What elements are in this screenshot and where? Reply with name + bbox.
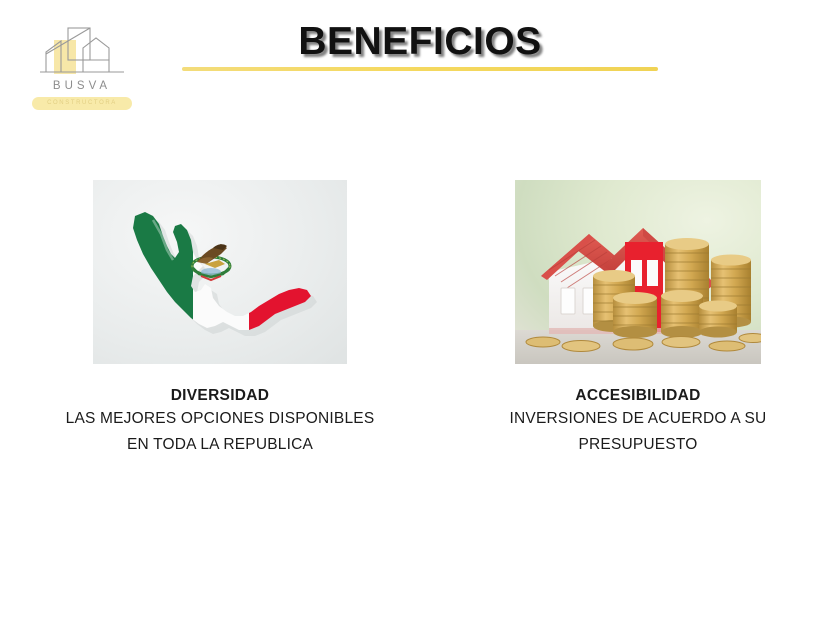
logo-subtitle: CONSTRUCTORA <box>32 97 132 110</box>
slide-benefits: BUSVA CONSTRUCTORA BENEFICIOS <box>0 0 840 630</box>
title-underline-rule <box>182 67 658 71</box>
logo-wordmark: BUSVA <box>26 80 138 92</box>
benefit-heading: ACCESIBILIDAD <box>458 386 818 406</box>
benefit-description-line-2: PRESUPUESTO <box>458 432 818 458</box>
mexico-map-illustration <box>93 180 347 364</box>
benefit-caption: DIVERSIDAD LAS MEJORES OPCIONES DISPONIB… <box>28 386 412 458</box>
page-title: BENEFICIOS <box>0 20 840 64</box>
house-coins-photo <box>515 180 761 364</box>
benefit-description-line-2: EN TODA LA REPUBLICA <box>28 432 412 458</box>
benefit-description-line-1: INVERSIONES DE ACUERDO A SU <box>458 406 818 432</box>
benefit-description-line-1: LAS MEJORES OPCIONES DISPONIBLES <box>28 406 412 432</box>
benefit-card-accesibilidad: ACCESIBILIDAD INVERSIONES DE ACUERDO A S… <box>458 180 818 458</box>
house-and-coins-illustration <box>515 180 761 364</box>
benefit-caption: ACCESIBILIDAD INVERSIONES DE ACUERDO A S… <box>458 386 818 458</box>
mexico-map-flag-photo <box>93 180 347 364</box>
benefit-heading: DIVERSIDAD <box>28 386 412 406</box>
benefit-card-diversidad: DIVERSIDAD LAS MEJORES OPCIONES DISPONIB… <box>28 180 412 458</box>
